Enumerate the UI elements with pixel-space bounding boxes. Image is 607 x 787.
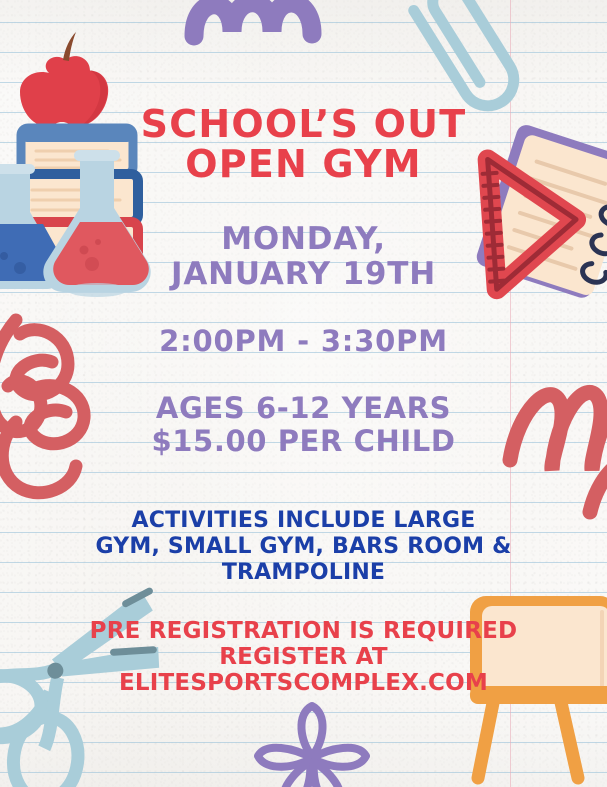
registration-line-1: PRE REGISTRATION IS REQUIRED [0,618,607,644]
date-line-2: JANUARY 19TH [0,257,607,292]
price-line: $15.00 PER CHILD [0,425,607,458]
purple-scribble-m-icon [186,0,376,80]
ages-price-block: AGES 6-12 YEARS $15.00 PER CHILD [0,392,607,458]
flyer-canvas: SCHOOL’S OUT OPEN GYM MONDAY, JANUARY 19… [0,0,607,787]
title-line-1: SCHOOL’S OUT [0,104,607,144]
time-block: 2:00PM - 3:30PM [0,327,607,357]
date-block: MONDAY, JANUARY 19TH [0,222,607,291]
activities-block: ACTIVITIES INCLUDE LARGE GYM, SMALL GYM,… [0,508,607,586]
title-block: SCHOOL’S OUT OPEN GYM [0,104,607,185]
date-line-1: MONDAY, [0,222,607,257]
activities-line-2: GYM, SMALL GYM, BARS ROOM & [0,534,607,560]
ages-line: AGES 6-12 YEARS [0,392,607,425]
title-line-2: OPEN GYM [0,144,607,184]
purple-flower-icon [242,696,382,787]
activities-line-1: ACTIVITIES INCLUDE LARGE [0,508,607,534]
registration-line-2: REGISTER AT [0,644,607,670]
activities-line-3: TRAMPOLINE [0,560,607,586]
registration-block: PRE REGISTRATION IS REQUIRED REGISTER AT… [0,618,607,697]
registration-website[interactable]: ELITESPORTSCOMPLEX.COM [0,670,607,696]
time-line: 2:00PM - 3:30PM [0,327,607,357]
